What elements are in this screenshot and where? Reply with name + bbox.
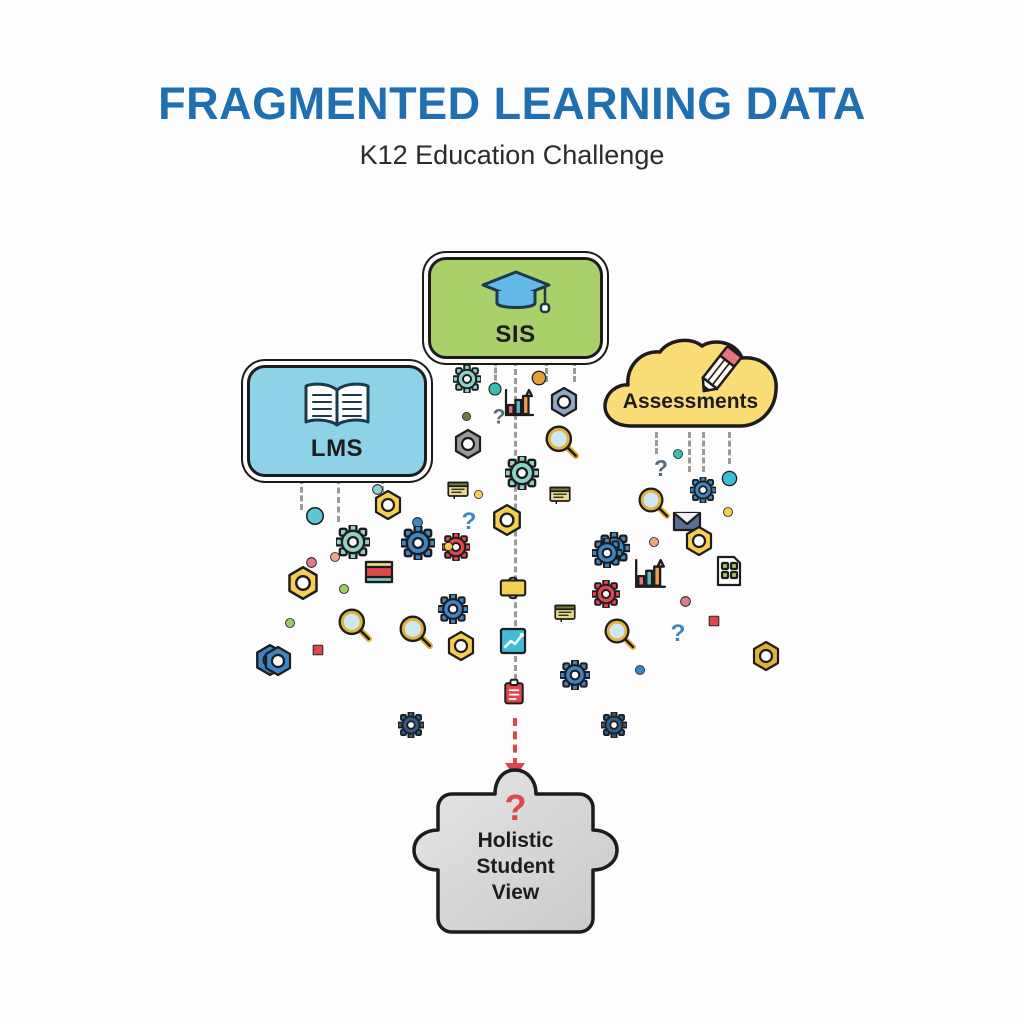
gear-icon (592, 580, 620, 608)
dot-icon (720, 469, 739, 488)
graduation-cap-icon (479, 268, 553, 321)
connector-lms-2 (337, 478, 340, 522)
gear-icon (592, 538, 622, 568)
svg-text:?: ? (462, 508, 477, 534)
magnifier-icon (338, 608, 372, 642)
magnifier-icon (638, 487, 670, 519)
briefcase-icon (498, 572, 528, 602)
source-node-sis[interactable]: SIS (428, 257, 603, 359)
svg-text:?: ? (654, 455, 668, 481)
convergence-arrow-line (513, 718, 517, 766)
puzzle-line-3: View (408, 880, 623, 906)
source-node-lms-label: LMS (311, 435, 363, 463)
holistic-student-view-label: Holistic Student View (408, 828, 623, 906)
connector-assessments-3 (702, 432, 705, 472)
magnifier-icon (545, 425, 579, 459)
hexagon-nut-icon (262, 645, 294, 677)
square-icon (707, 614, 721, 628)
connector-assessments-1 (655, 432, 658, 454)
question-mark-icon: ? (648, 455, 674, 481)
hexagon-nut-icon (683, 525, 715, 557)
gear-icon (505, 456, 539, 490)
connector-sis-5 (573, 360, 576, 382)
gear-icon (336, 525, 370, 559)
hexagon-nut-icon (452, 428, 484, 460)
dot-icon (530, 369, 548, 387)
magnifier-icon (604, 618, 636, 650)
open-book-icon (301, 380, 373, 435)
page-subtitle: K12 Education Challenge (0, 140, 1024, 171)
graph-card-icon (497, 625, 529, 657)
infographic-canvas: FRAGMENTED LEARNING DATA K12 Education C… (0, 0, 1024, 1024)
monitor-icon (548, 483, 572, 507)
gear-icon (601, 712, 627, 738)
hexagon-nut-icon (372, 489, 404, 521)
hexagon-nut-icon (285, 565, 321, 601)
dot-icon (634, 664, 646, 676)
bar-chart-icon (633, 557, 667, 591)
dot-icon (284, 617, 296, 629)
question-mark-icon: ? (455, 506, 483, 534)
magnifier-icon (399, 615, 433, 649)
dot-icon (304, 505, 326, 527)
dot-icon (338, 583, 350, 595)
svg-text:?: ? (671, 620, 686, 646)
dot-icon (443, 541, 454, 552)
question-mark-icon: ? (408, 790, 623, 826)
dot-icon (461, 411, 472, 422)
card-icon (363, 556, 395, 588)
cloud-shape (598, 338, 783, 430)
source-node-assessments[interactable]: Assessments (598, 338, 783, 430)
bar-chart-icon (503, 387, 535, 419)
dot-icon (487, 381, 503, 397)
hexagon-nut-icon (750, 640, 782, 672)
document-grid-icon (712, 555, 744, 587)
holistic-student-view-node[interactable]: ? Holistic Student View (408, 768, 623, 943)
connector-lms-1 (300, 478, 303, 510)
source-node-lms[interactable]: LMS (247, 365, 427, 477)
puzzle-line-1: Holistic (408, 828, 623, 854)
gear-icon (401, 526, 435, 560)
dot-icon (679, 595, 692, 608)
connector-assessments-4 (728, 432, 731, 464)
monitor-icon (553, 601, 577, 625)
question-mark-icon: ? (664, 618, 692, 646)
dot-icon (473, 489, 484, 500)
connector-assessments-2 (688, 432, 691, 472)
hexagon-nut-icon (548, 386, 580, 418)
dot-icon (672, 448, 684, 460)
gear-icon (560, 660, 590, 690)
source-node-assessments-label: Assessments (598, 390, 783, 414)
dot-icon (329, 551, 341, 563)
monitor-icon (446, 478, 470, 502)
dot-icon (722, 506, 734, 518)
gear-icon (690, 477, 716, 503)
hexagon-nut-icon (490, 503, 524, 537)
gear-icon (453, 365, 481, 393)
page-title: FRAGMENTED LEARNING DATA (0, 78, 1024, 130)
source-node-sis-label: SIS (495, 321, 535, 349)
dot-icon (648, 536, 660, 548)
gear-icon (398, 712, 424, 738)
hexagon-nut-icon (445, 630, 477, 662)
gear-icon (438, 594, 468, 624)
clipboard-icon (500, 678, 528, 706)
square-icon (311, 643, 325, 657)
puzzle-line-2: Student (408, 854, 623, 880)
